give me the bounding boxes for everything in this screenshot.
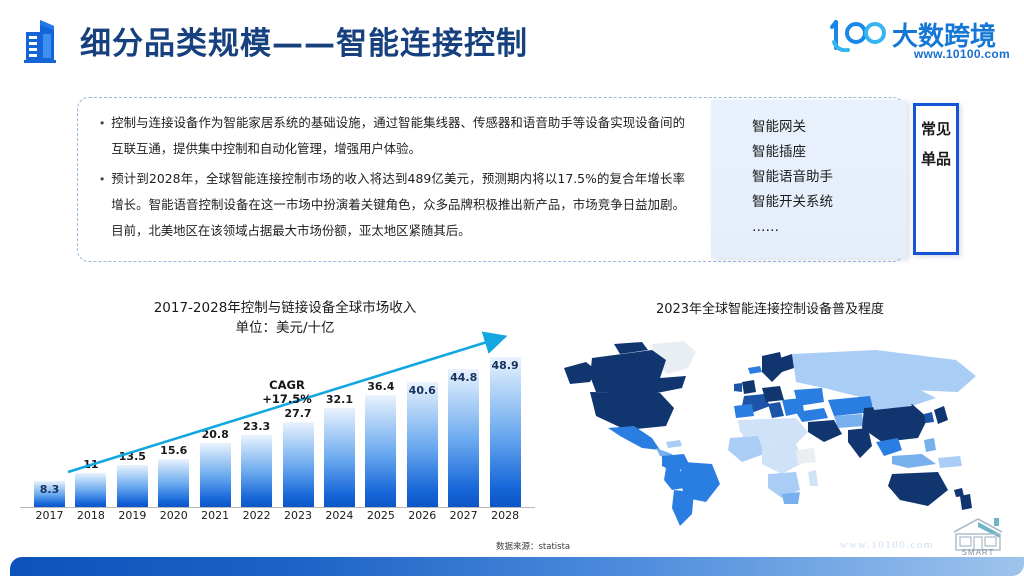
bar-value-label: 11: [83, 458, 98, 471]
x-axis-line: [20, 507, 535, 508]
page-title: 细分品类规模——智能连接控制: [80, 18, 528, 63]
list-item: 智能插座: [752, 140, 912, 165]
product-list: 智能网关 智能插座 智能语音助手 智能开关系统 ……: [752, 115, 912, 240]
bar-column: 20.8: [200, 443, 231, 507]
bar-column: 44.8: [448, 369, 479, 507]
slide-root: 细分品类规模——智能连接控制 大数跨境 www.10100.com • 控制与连…: [0, 0, 1024, 576]
bar-value-label: 44.8: [450, 371, 477, 384]
bar-value-label: 32.1: [326, 393, 353, 406]
x-axis-tick-label: 2024: [317, 509, 361, 522]
x-axis-tick-label: 2023: [276, 509, 320, 522]
bar-chart: 8.31113.515.620.823.327.732.136.440.644.…: [20, 340, 535, 525]
bar: [407, 382, 438, 507]
cagr-annotation: CAGR +17.5%: [252, 378, 322, 406]
list-item: 智能语音助手: [752, 165, 912, 190]
bullet-marker: •: [100, 110, 104, 136]
x-axis-tick-label: 2025: [359, 509, 403, 522]
list-item: 智能开关系统: [752, 190, 912, 215]
bar-value-label: 20.8: [202, 428, 229, 441]
map-regions: [564, 341, 976, 526]
bar-value-label: 23.3: [243, 420, 270, 433]
bar-column: 32.1: [324, 408, 355, 507]
brand-url: www.10100.com: [914, 47, 1010, 61]
bar: [324, 408, 355, 507]
bullet-marker: •: [100, 166, 104, 192]
data-source: 数据来源：statista: [496, 540, 570, 552]
bar-column: 27.7: [283, 422, 314, 507]
footer-bar: [10, 557, 1024, 576]
bullet-text: 控制与连接设备作为智能家居系统的基础设施，通过智能集线器、传感器和语音助手等设备…: [111, 110, 685, 162]
common-products-tab-label: 常见单品: [916, 114, 956, 174]
x-axis-tick-label: 2027: [442, 509, 486, 522]
ten-hundred-logo-icon: [830, 18, 892, 52]
list-item: • 预计到2028年，全球智能连接控制市场的收入将达到489亿美元，预测期内将以…: [100, 166, 685, 244]
x-axis-tick-label: 2022: [235, 509, 279, 522]
x-axis-tick-label: 2019: [110, 509, 154, 522]
bar-series: 8.31113.515.620.823.327.732.136.440.644.…: [20, 347, 535, 507]
bar-column: 36.4: [365, 395, 396, 507]
bar-value-label: 48.9: [492, 359, 519, 372]
x-axis-tick-label: 2018: [69, 509, 113, 522]
bar-column: 11: [75, 473, 106, 507]
bar: [241, 435, 272, 507]
bar: [158, 459, 189, 507]
bar: [75, 473, 106, 507]
bar-value-label: 27.7: [284, 407, 311, 420]
x-axis-tick-label: 2021: [193, 509, 237, 522]
bar-value-label: 40.6: [409, 384, 436, 397]
map-svg: [556, 338, 996, 533]
x-axis-tick-label: 2020: [152, 509, 196, 522]
bar-value-label: 15.6: [160, 444, 187, 457]
smart-house-icon: SMART: [944, 516, 1014, 556]
x-axis-tick-label: 2028: [483, 509, 527, 522]
bar: [365, 395, 396, 507]
bar-value-label: 36.4: [367, 380, 394, 393]
bullet-list: • 控制与连接设备作为智能家居系统的基础设施，通过智能集线器、传感器和语音助手等…: [100, 110, 685, 248]
brand-logo: 大数跨境 www.10100.com: [830, 16, 1010, 68]
svg-text:SMART: SMART: [962, 548, 995, 556]
x-axis-tick-label: 2026: [400, 509, 444, 522]
bar: [117, 465, 148, 507]
map-title: 2023年全球智能连接控制设备普及程度: [600, 298, 940, 317]
cagr-value: +17.5%: [252, 392, 322, 406]
bar: [448, 369, 479, 507]
x-axis-labels: 2017201820192020202120222023202420252026…: [20, 509, 535, 525]
bar-column: 15.6: [158, 459, 189, 507]
list-item: • 控制与连接设备作为智能家居系统的基础设施，通过智能集线器、传感器和语音助手等…: [100, 110, 685, 162]
chart-title: 2017-2028年控制与链接设备全球市场收入 单位：美元/十亿: [45, 298, 525, 338]
bar-value-label: 13.5: [119, 450, 146, 463]
bar: [283, 422, 314, 507]
bar-column: 8.3: [34, 481, 65, 507]
bar-column: 13.5: [117, 465, 148, 507]
bar: [490, 357, 521, 507]
list-item: ……: [752, 215, 912, 240]
x-axis-tick-label: 2017: [28, 509, 72, 522]
bar-column: 48.9: [490, 357, 521, 507]
footer-watermark-url: www.10100.com: [839, 539, 934, 551]
bar: [200, 443, 231, 507]
chart-title-unit: 单位：美元/十亿: [45, 318, 525, 338]
world-choropleth-map: [556, 338, 996, 533]
chart-title-main: 2017-2028年控制与链接设备全球市场收入: [45, 298, 525, 318]
bar-column: 40.6: [407, 382, 438, 507]
bar-value-label: 8.3: [40, 483, 60, 496]
bullet-text: 预计到2028年，全球智能连接控制市场的收入将达到489亿美元，预测期内将以17…: [111, 166, 685, 244]
common-products-tab: 常见单品: [913, 103, 959, 255]
list-item: 智能网关: [752, 115, 912, 140]
building-icon: [14, 14, 66, 66]
cagr-label: CAGR: [252, 378, 322, 392]
bar-column: 23.3: [241, 435, 272, 507]
